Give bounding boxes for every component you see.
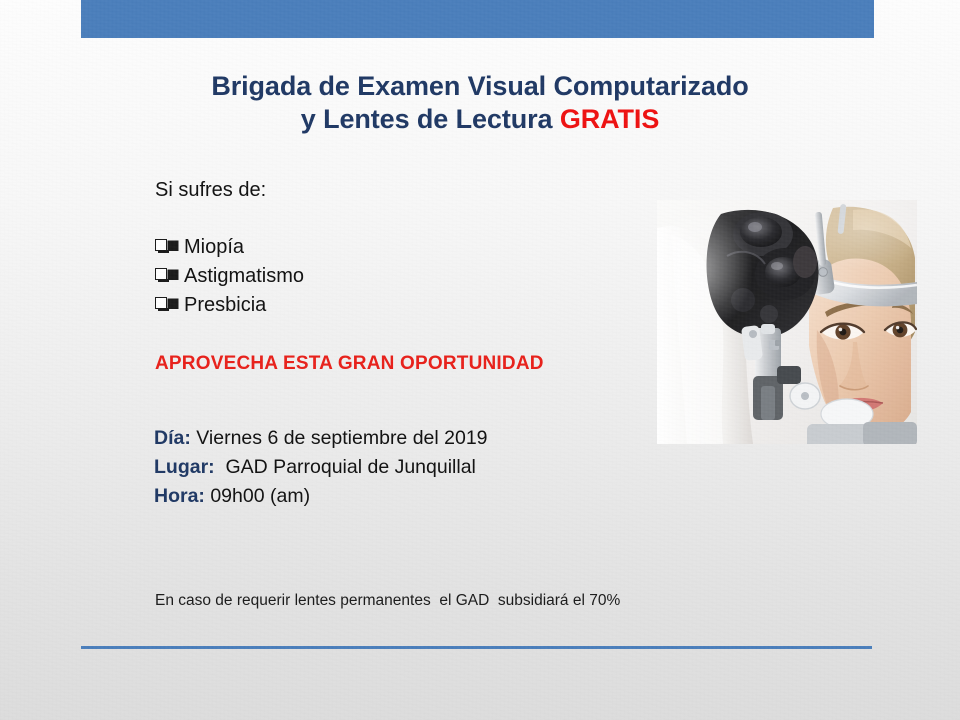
title-line-1: Brigada de Examen Visual Computarizado (60, 70, 900, 103)
detail-row-dia: Día: Viernes 6 de septiembre del 2019 (154, 424, 488, 453)
detail-value: GAD Parroquial de Junquillal (215, 456, 476, 478)
detail-row-lugar: Lugar: GAD Parroquial de Junquillal (154, 453, 488, 482)
list-item: Astigmatismo (155, 262, 304, 291)
title-highlight-gratis: GRATIS (560, 104, 659, 134)
title-line-2-text: y Lentes de Lectura (301, 104, 560, 134)
list-item-label: Miopía (184, 233, 244, 262)
footnote-text: En caso de requerir lentes permanentes e… (155, 592, 620, 610)
symptom-list: Miopía Astigmatismo Presbicia (155, 233, 304, 320)
shadowed-square-bullet-icon (155, 239, 168, 252)
detail-value: Viernes 6 de septiembre del 2019 (191, 427, 488, 449)
list-item: Presbicia (155, 291, 304, 320)
slide-canvas: Brigada de Examen Visual Computarizado y… (0, 0, 960, 720)
eye-exam-photo-graphic (657, 200, 917, 444)
detail-label: Hora: (154, 485, 205, 507)
detail-row-hora: Hora: 09h00 (am) (154, 482, 488, 511)
list-item: Miopía (155, 233, 304, 262)
detail-label: Día: (154, 427, 191, 449)
list-item-label: Astigmatismo (184, 262, 304, 291)
shadowed-square-bullet-icon (155, 268, 168, 281)
detail-label: Lugar: (154, 456, 215, 478)
eye-exam-photo (657, 200, 917, 444)
title-line-2: y Lentes de Lectura GRATIS (60, 103, 900, 136)
event-details: Día: Viernes 6 de septiembre del 2019 Lu… (154, 424, 488, 511)
shadowed-square-bullet-icon (155, 297, 168, 310)
top-accent-bar (81, 0, 874, 38)
call-to-action-text: APROVECHA ESTA GRAN OPORTUNIDAD (155, 353, 544, 375)
bottom-accent-rule (81, 646, 872, 649)
detail-value: 09h00 (am) (205, 485, 310, 507)
intro-text: Si sufres de: (155, 177, 266, 203)
list-item-label: Presbicia (184, 291, 266, 320)
page-title: Brigada de Examen Visual Computarizado y… (60, 70, 900, 136)
